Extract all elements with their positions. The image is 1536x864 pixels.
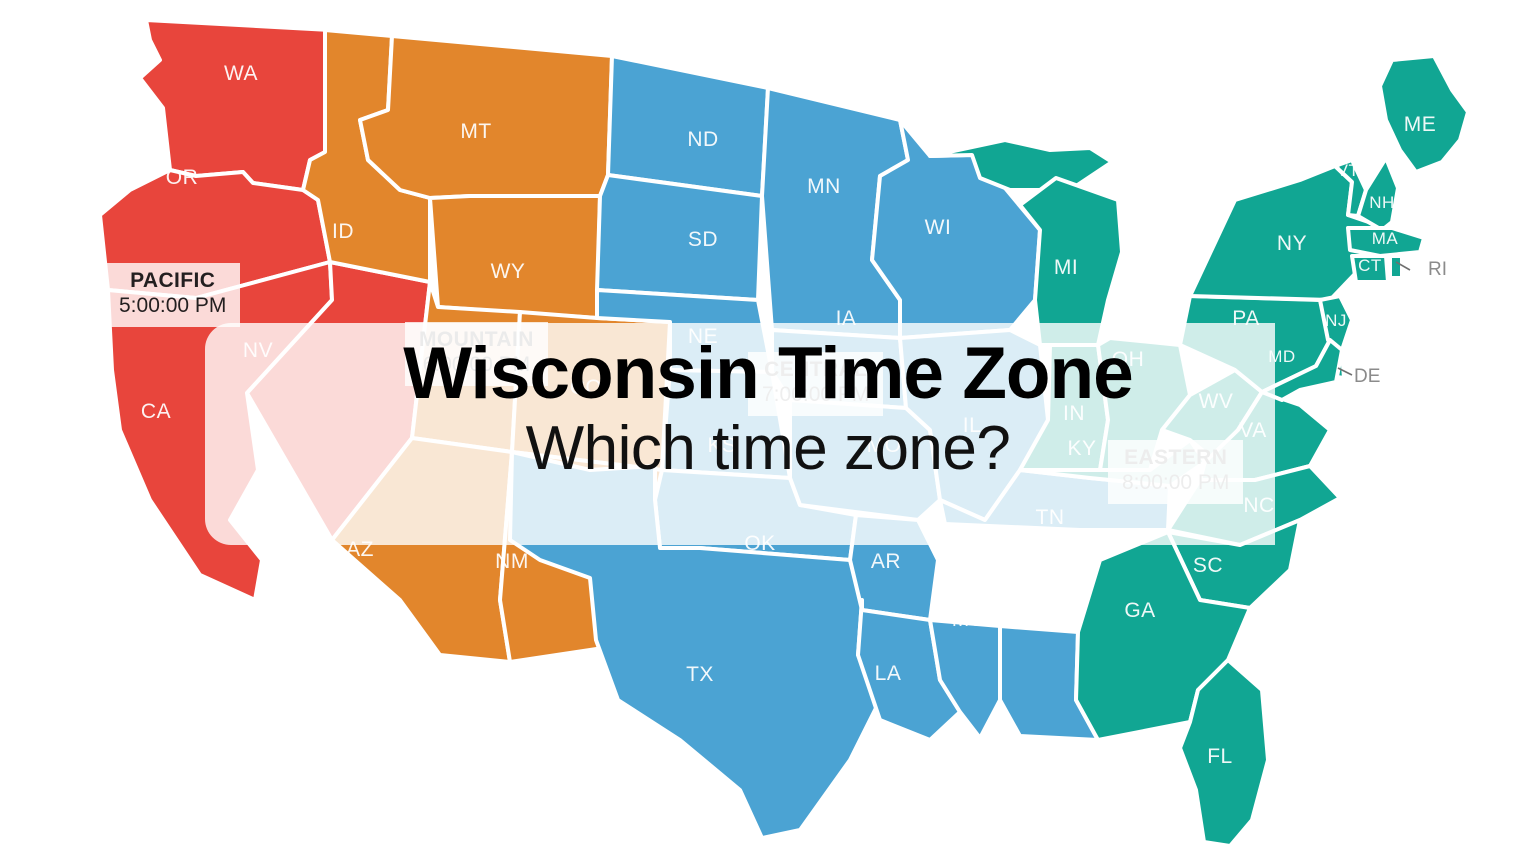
title-backdrop-band: [205, 323, 1275, 545]
state-MT[interactable]: [360, 36, 612, 198]
state-label-NM: NM: [495, 550, 529, 573]
state-label-TX: TX: [686, 663, 714, 686]
state-label-CT: CT: [1358, 256, 1382, 275]
state-label-NY: NY: [1277, 232, 1307, 255]
state-RI[interactable]: [1390, 256, 1402, 278]
state-label-CA: CA: [141, 400, 171, 423]
state-label-WY: WY: [491, 260, 526, 283]
slide-canvas: WA OR CA NV ID MT WY UT CO AZ NM ND SD N…: [0, 0, 1536, 864]
state-label-NH: NH: [1369, 193, 1395, 212]
state-label-VT: VT: [1337, 161, 1360, 180]
state-label-NJ: NJ: [1325, 311, 1347, 330]
state-ND[interactable]: [608, 56, 768, 196]
state-label-ME: ME: [1404, 113, 1437, 136]
state-label-MI: MI: [1054, 256, 1078, 279]
state-label-FL: FL: [1207, 745, 1233, 768]
state-label-ND: ND: [687, 128, 718, 151]
state-label-SD: SD: [688, 228, 718, 251]
state-label-WI: WI: [925, 216, 952, 239]
state-label-MS: MS: [952, 608, 985, 631]
state-label-MN: MN: [807, 175, 841, 198]
state-label-AL: AL: [1035, 604, 1062, 627]
state-WA[interactable]: [140, 20, 330, 190]
zone-tag-pacific: PACIFIC 5:00:00 PM: [105, 263, 240, 327]
state-label-OR: OR: [166, 166, 199, 189]
state-label-RI: RI: [1428, 259, 1447, 280]
zone-time-pacific: 5:00:00 PM: [119, 294, 226, 319]
zone-name-pacific: PACIFIC: [119, 269, 226, 294]
state-SD[interactable]: [597, 175, 762, 300]
state-label-ID: ID: [332, 220, 354, 243]
state-label-WA: WA: [224, 62, 258, 85]
state-label-MT: MT: [460, 120, 491, 143]
state-label-LA: LA: [875, 662, 902, 685]
state-label-GA: GA: [1124, 599, 1155, 622]
state-WY[interactable]: [430, 196, 600, 318]
state-label-AR: AR: [871, 550, 901, 573]
state-label-SC: SC: [1193, 554, 1223, 577]
state-label-MA: MA: [1372, 229, 1399, 248]
state-label-DE: DE: [1354, 366, 1380, 387]
